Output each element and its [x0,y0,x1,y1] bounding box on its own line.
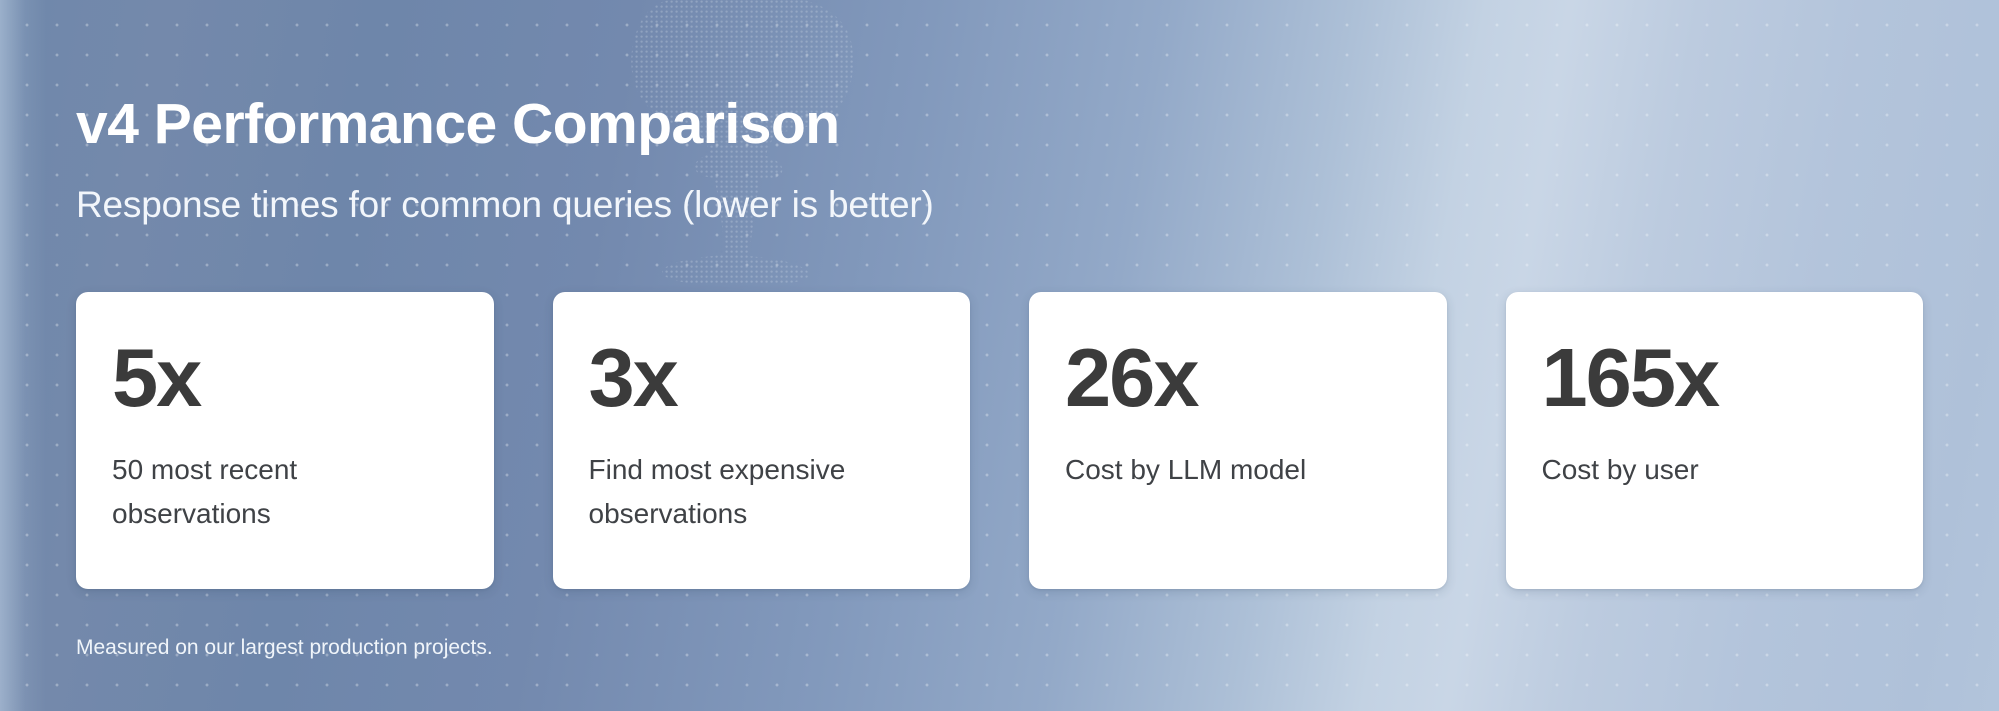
stat-value: 165x [1542,334,1888,422]
stat-label: 50 most recent observations [112,448,412,536]
stat-value: 26x [1065,334,1411,422]
stat-label: Find most expensive observations [589,448,889,536]
stat-card: 165x Cost by user [1506,292,1924,589]
stat-label: Cost by user [1542,448,1842,492]
stat-value: 3x [589,334,935,422]
stat-card: 5x 50 most recent observations [76,292,494,589]
stat-card-list: 5x 50 most recent observations 3x Find m… [76,292,1923,589]
banner-content: v4 Performance Comparison Response times… [0,0,1999,711]
stat-label: Cost by LLM model [1065,448,1365,492]
stat-value: 5x [112,334,458,422]
stat-card: 26x Cost by LLM model [1029,292,1447,589]
page-subtitle: Response times for common queries (lower… [76,182,934,228]
stat-card: 3x Find most expensive observations [553,292,971,589]
page-title: v4 Performance Comparison [76,92,840,156]
footnote: Measured on our largest production proje… [76,634,493,662]
performance-comparison-banner: v4 Performance Comparison Response times… [0,0,1999,711]
